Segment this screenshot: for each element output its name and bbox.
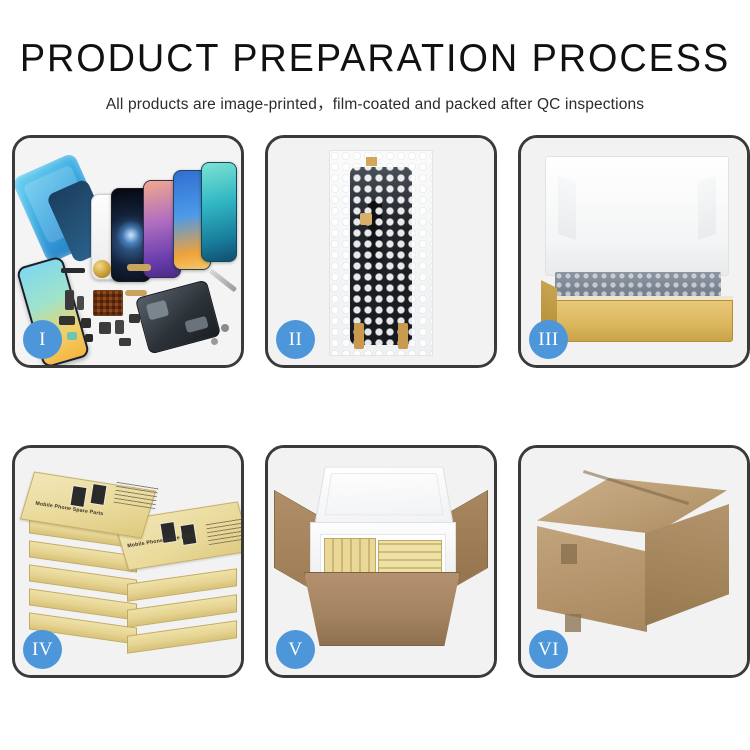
carton-body-icon	[304, 572, 460, 646]
screw-part-icon	[211, 338, 218, 345]
tape-icon	[354, 323, 364, 349]
step-panel-2: II	[265, 135, 497, 368]
flex-cable-part-2-icon	[125, 290, 147, 296]
box-lid-icon	[545, 156, 729, 276]
steps-grid: I II	[12, 135, 738, 678]
bubble-wrap-bag-icon	[329, 150, 433, 356]
carton-tape-icon	[565, 614, 581, 632]
page-subtitle: All products are image-printed，film-coat…	[0, 92, 750, 114]
step-badge-5: V	[276, 630, 315, 669]
small-part-icon	[85, 334, 93, 342]
lid-flap-left-icon	[558, 176, 576, 240]
phone-chassis-icon	[135, 279, 221, 354]
step-panel-4: Mobile Phone Spare Parts Mobile Phone Sp…	[12, 445, 244, 678]
step-badge-6: VI	[529, 630, 568, 669]
bubble-texture-icon	[330, 151, 432, 355]
small-part-icon	[67, 332, 77, 340]
small-part-icon	[59, 316, 75, 325]
speaker-part-icon	[93, 260, 111, 278]
foam-lid-icon	[315, 467, 454, 524]
inner-boxes-right-icon	[378, 540, 442, 576]
carton-tape-icon	[561, 544, 577, 564]
carton-left-face-icon	[537, 526, 647, 632]
bar-part-icon	[61, 268, 85, 273]
small-part-icon	[81, 318, 91, 328]
small-part-icon	[129, 314, 140, 323]
step-badge-1: I	[23, 320, 62, 359]
small-part-icon	[77, 296, 84, 310]
tape-icon	[366, 157, 377, 166]
tape-icon	[398, 323, 408, 349]
header: PRODUCT PREPARATION PROCESS All products…	[0, 0, 750, 114]
step-badge-4: IV	[23, 630, 62, 669]
step-panel-5: V	[265, 445, 497, 678]
step-badge-3: III	[529, 320, 568, 359]
screwdriver-icon	[209, 269, 237, 293]
phone-screen-teal-icon	[201, 162, 237, 262]
flex-cable-part-icon	[127, 264, 151, 271]
small-part-icon	[115, 320, 124, 334]
step-panel-1: I	[12, 135, 244, 368]
small-part-icon	[99, 322, 111, 334]
small-part-icon	[119, 338, 131, 346]
step-panel-6: VI	[518, 445, 750, 678]
product-preparation-infographic: PRODUCT PREPARATION PROCESS All products…	[0, 0, 750, 750]
step-panel-3: III	[518, 135, 750, 368]
small-part-icon	[65, 290, 74, 310]
circuit-grid-part-icon	[93, 290, 123, 316]
step-badge-2: II	[276, 320, 315, 359]
box-front-icon	[541, 300, 733, 342]
tape-icon	[360, 213, 372, 225]
box-stack-icon: Mobile Phone Spare Parts Mobile Phone Sp…	[23, 462, 239, 664]
lid-flap-right-icon	[698, 176, 716, 240]
inner-boxes-left-icon	[324, 538, 376, 576]
screw-part-icon	[221, 324, 229, 332]
page-title: PRODUCT PREPARATION PROCESS	[11, 38, 739, 81]
